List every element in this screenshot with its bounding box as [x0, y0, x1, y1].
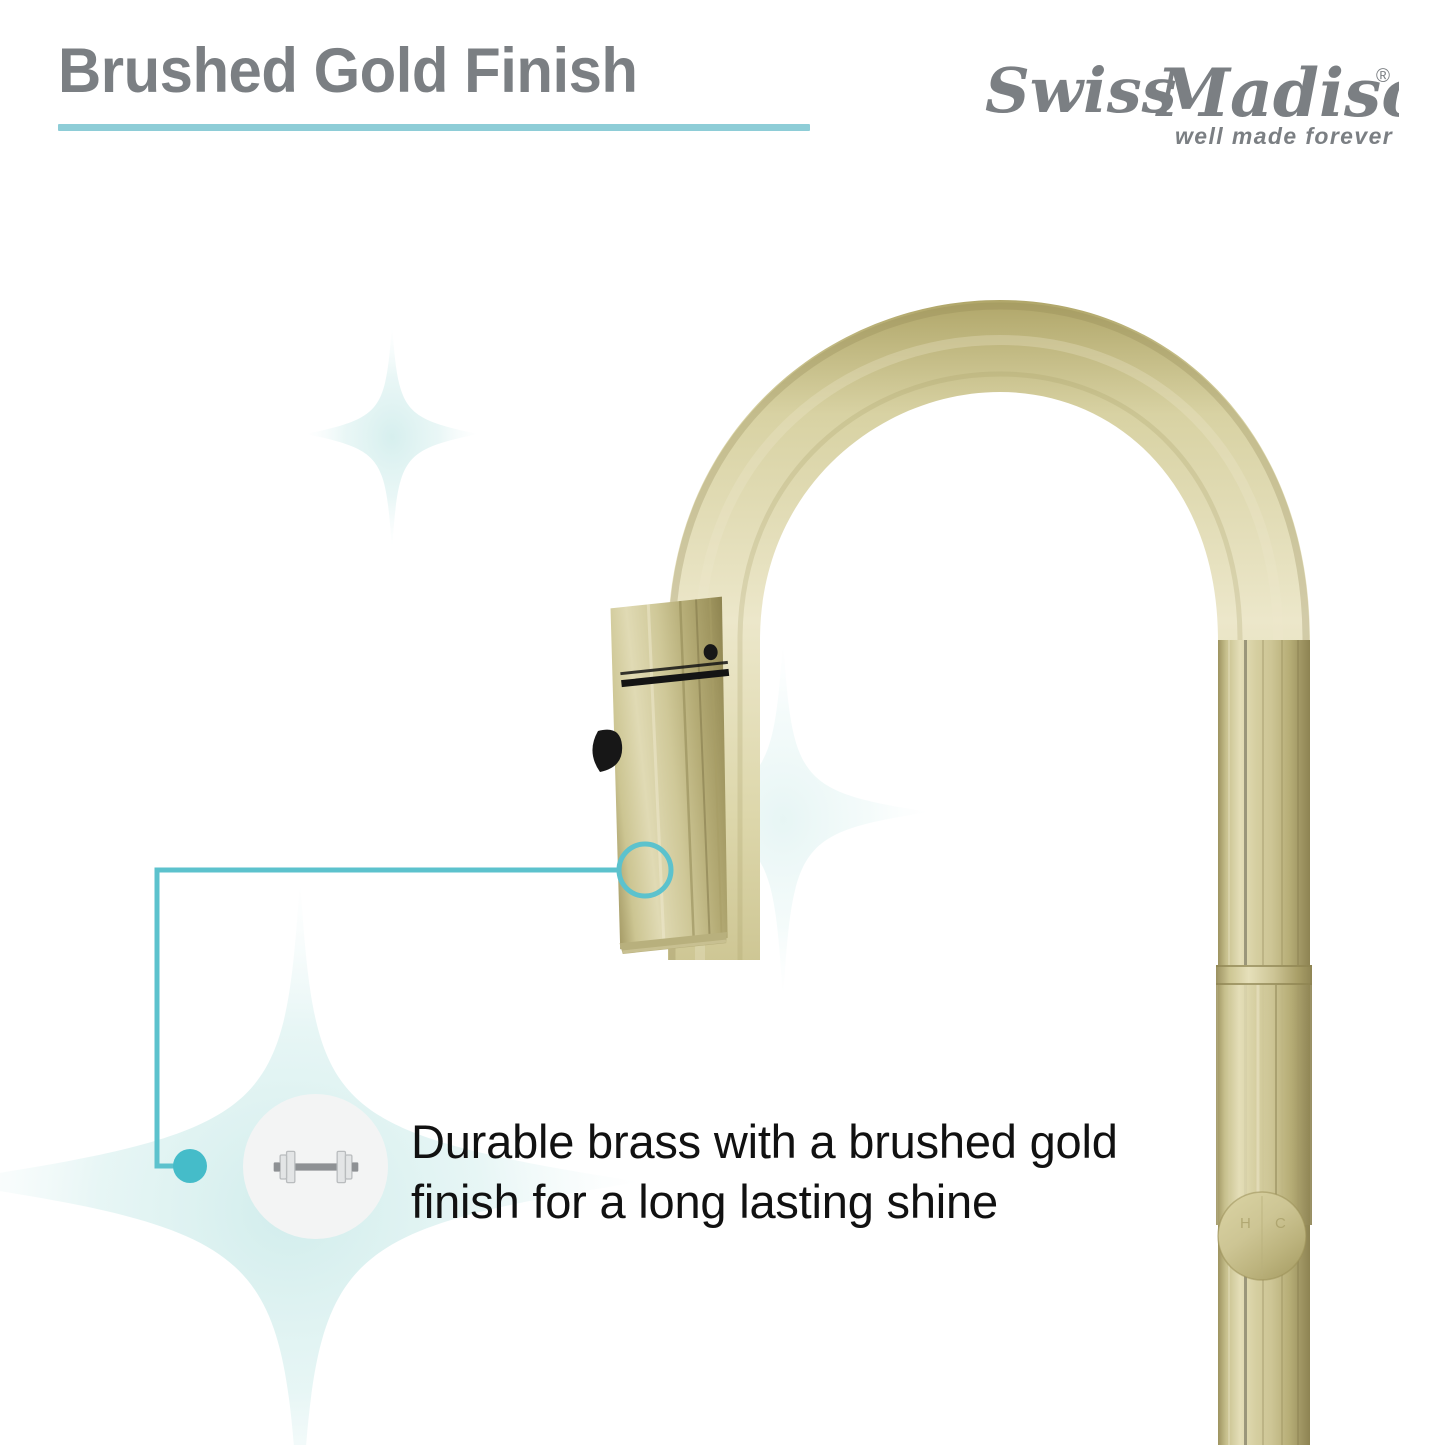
- feature-caption: Durable brass with a brushed gold finish…: [411, 1112, 1171, 1232]
- feature-icon-badge: [243, 1094, 388, 1239]
- feature-caption-line-1: Durable brass with a brushed gold: [411, 1112, 1171, 1172]
- product-infographic: Brushed Gold Finish Swiss Madison ® well…: [0, 0, 1445, 1445]
- handle-mark-hot: H: [1240, 1215, 1251, 1232]
- feature-caption-line-2: finish for a long lasting shine: [411, 1172, 1171, 1232]
- dumbbell-icon: [270, 1121, 362, 1213]
- faucet-gooseneck: [668, 300, 1310, 1445]
- column-sleeve-joint: [1216, 965, 1312, 1225]
- handle-mark-cold: C: [1275, 1215, 1286, 1232]
- faucet-round-handle[interactable]: H C: [1218, 1192, 1306, 1280]
